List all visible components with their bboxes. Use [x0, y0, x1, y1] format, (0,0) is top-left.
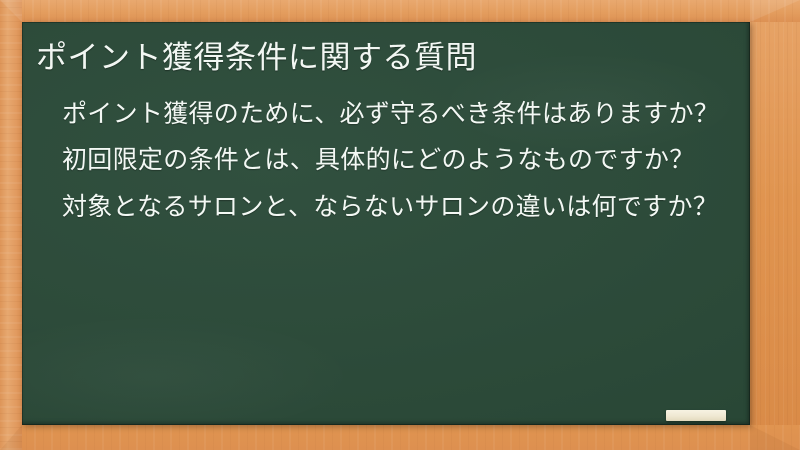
question-item: 初回限定の条件とは、具体的にどのようなものですか？: [56, 142, 728, 179]
blackboard-content: ポイント獲得条件に関する質問 ポイント獲得のために、必ず守るべき条件はありますか…: [22, 22, 750, 425]
chalk-stick-icon: [666, 410, 726, 421]
frame-rail-bottom: [0, 425, 800, 450]
frame-rail-left: [0, 0, 22, 450]
blackboard-slide: ポイント獲得条件に関する質問 ポイント獲得のために、必ず守るべき条件はありますか…: [0, 0, 800, 450]
blackboard-surface: ポイント獲得条件に関する質問 ポイント獲得のために、必ず守るべき条件はありますか…: [22, 22, 750, 425]
question-item: ポイント獲得のために、必ず守るべき条件はありますか？: [56, 96, 728, 133]
frame-rail-top: [0, 0, 800, 22]
question-item: 対象となるサロンと、ならないサロンの違いは何ですか？: [56, 189, 728, 226]
slide-title: ポイント獲得条件に関する質問: [36, 40, 736, 76]
question-list: ポイント獲得のために、必ず守るべき条件はありますか？ 初回限定の条件とは、具体的…: [30, 96, 736, 226]
frame-rail-right: [750, 0, 800, 450]
